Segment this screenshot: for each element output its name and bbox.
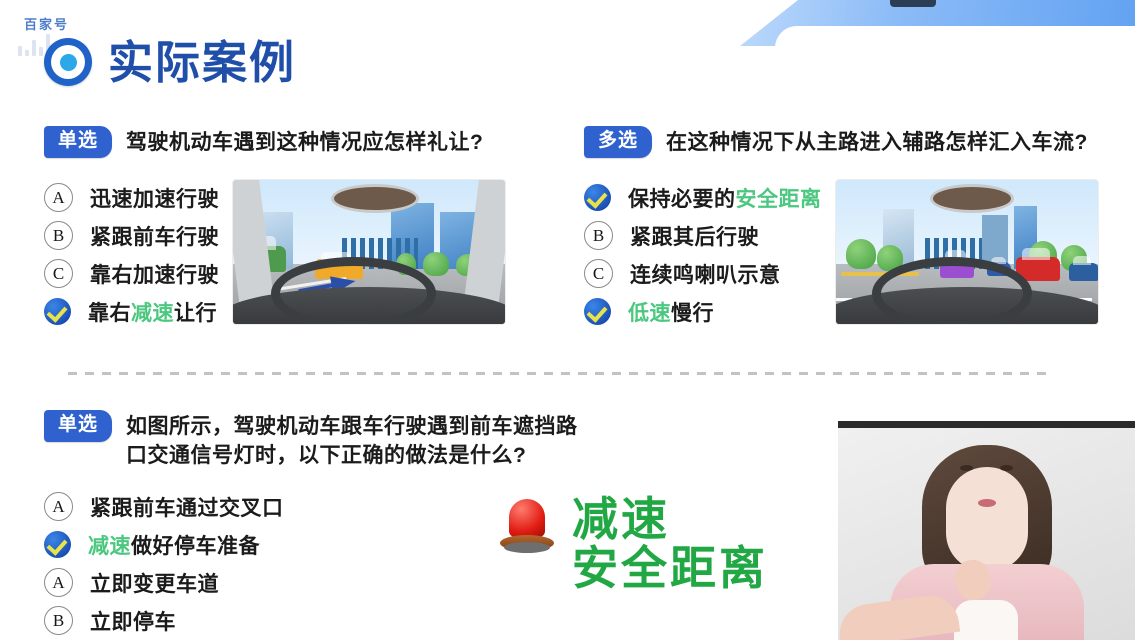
slogan-line-2: 安全距离	[572, 544, 768, 593]
option-text-post: 让行	[174, 302, 217, 325]
option-marker-checked-icon[interactable]	[584, 184, 611, 211]
question-3-text: 如图所示，驾驶机动车跟车行驶遇到前车遮挡路 口交通信号灯时，以下正确的做法是什么…	[126, 410, 578, 471]
option-marker[interactable]: C	[44, 259, 73, 288]
presenter-video[interactable]	[838, 421, 1135, 640]
presenter-mouth	[978, 499, 996, 507]
option-row-selected[interactable]: 减速做好停车准备	[44, 527, 284, 563]
question-3-line-2: 口交通信号灯时，以下正确的做法是什么?	[126, 442, 578, 471]
question-card-2: 多选 在这种情况下从主路进入辅路怎样汇入车流? 保持必要的安全距离 B 紧跟其后…	[584, 126, 1124, 330]
option-marker[interactable]: A	[44, 568, 73, 597]
option-label: 紧跟前车通过交叉口	[90, 492, 284, 522]
illustration-driver-view-intersection	[233, 180, 505, 324]
option-marker[interactable]: B	[584, 221, 613, 250]
option-row-selected[interactable]: 保持必要的安全距离	[584, 180, 822, 216]
option-marker[interactable]: A	[44, 183, 73, 212]
option-row-selected[interactable]: 低速慢行	[584, 294, 822, 330]
questions-top-row: 单选 驾驶机动车遇到这种情况应怎样礼让? A 迅速加速行驶 B 紧跟前车行驶 C…	[0, 126, 1135, 366]
question-1-type-badge: 单选	[44, 126, 112, 158]
question-2-head: 多选 在这种情况下从主路进入辅路怎样汇入车流?	[584, 126, 1124, 158]
slogan-line-1: 减速	[572, 495, 768, 544]
option-row[interactable]: B 紧跟其后行驶	[584, 218, 822, 254]
option-row[interactable]: A 立即变更车道	[44, 565, 284, 601]
option-label: 紧跟前车行驶	[90, 221, 219, 251]
option-row[interactable]: C 连续鸣喇叭示意	[584, 256, 822, 292]
page-header: 实际案例	[44, 38, 296, 86]
option-marker[interactable]: B	[44, 221, 73, 250]
option-row[interactable]: A 迅速加速行驶	[44, 180, 219, 216]
option-text-post: 慢行	[671, 302, 714, 325]
siren-light-icon	[500, 495, 554, 553]
option-label: 立即停车	[90, 606, 176, 636]
option-label: 立即变更车道	[90, 568, 219, 598]
question-2-text: 在这种情况下从主路进入辅路怎样汇入车流?	[666, 126, 1088, 158]
option-label: 靠右减速让行	[88, 297, 217, 327]
question-3-type-badge: 单选	[44, 410, 112, 442]
question-3-line-1: 如图所示，驾驶机动车跟车行驶遇到前车遮挡路	[126, 413, 578, 442]
presenter-eye-right	[1000, 465, 1013, 471]
option-marker[interactable]: C	[584, 259, 613, 288]
option-marker-checked-icon[interactable]	[44, 298, 71, 325]
camera-notch-icon	[890, 0, 936, 7]
presenter-eye-left	[960, 465, 973, 471]
video-top-bar	[838, 421, 1135, 428]
section-divider	[68, 372, 1053, 375]
slogan-block: 减速 安全距离	[500, 495, 768, 593]
question-card-1: 单选 驾驶机动车遇到这种情况应怎样礼让? A 迅速加速行驶 B 紧跟前车行驶 C…	[44, 126, 564, 330]
option-marker[interactable]: B	[44, 606, 73, 635]
option-text-pre: 靠右	[88, 302, 131, 325]
question-1-options: A 迅速加速行驶 B 紧跟前车行驶 C 靠右加速行驶 靠右减速让行	[44, 180, 219, 330]
option-label: 紧跟其后行驶	[630, 221, 759, 251]
question-1-head: 单选 驾驶机动车遇到这种情况应怎样礼让?	[44, 126, 564, 158]
option-row[interactable]: A 紧跟前车通过交叉口	[44, 489, 284, 525]
option-row[interactable]: C 靠右加速行驶	[44, 256, 219, 292]
option-text-post: 做好停车准备	[131, 535, 260, 558]
illustration-driver-view-highway	[836, 180, 1098, 324]
target-icon	[44, 38, 92, 86]
option-marker-checked-icon[interactable]	[44, 531, 71, 558]
question-2-options: 保持必要的安全距离 B 紧跟其后行驶 C 连续鸣喇叭示意 低速慢行	[584, 180, 822, 330]
question-1-body: A 迅速加速行驶 B 紧跟前车行驶 C 靠右加速行驶 靠右减速让行	[44, 180, 564, 330]
watermark-text: 百家号	[24, 14, 69, 33]
question-2-body: 保持必要的安全距离 B 紧跟其后行驶 C 连续鸣喇叭示意 低速慢行	[584, 180, 1124, 330]
slogan-text: 减速 安全距离	[572, 495, 768, 593]
question-1-text: 驾驶机动车遇到这种情况应怎样礼让?	[126, 126, 483, 158]
option-text-highlight: 安全距离	[736, 188, 822, 211]
option-row-selected[interactable]: 靠右减速让行	[44, 294, 219, 330]
option-text-highlight: 减速	[131, 302, 174, 325]
option-text-highlight: 低速	[628, 302, 671, 325]
option-label: 靠右加速行驶	[90, 259, 219, 289]
option-marker[interactable]: A	[44, 492, 73, 521]
option-text-pre: 保持必要的	[628, 188, 736, 211]
option-label: 连续鸣喇叭示意	[630, 259, 781, 289]
question-3-options: A 紧跟前车通过交叉口 减速做好停车准备 A 立即变更车道 B 立即停车	[44, 489, 284, 639]
option-label: 减速做好停车准备	[88, 530, 260, 560]
option-row[interactable]: B 紧跟前车行驶	[44, 218, 219, 254]
question-2-type-badge: 多选	[584, 126, 652, 158]
presenter-inner-top	[954, 600, 1018, 640]
option-marker-checked-icon[interactable]	[584, 298, 611, 325]
white-rounded-panel	[775, 26, 1135, 46]
option-text-highlight: 减速	[88, 535, 131, 558]
option-label: 保持必要的安全距离	[628, 183, 822, 213]
question-3-head: 单选 如图所示，驾驶机动车跟车行驶遇到前车遮挡路 口交通信号灯时，以下正确的做法…	[44, 410, 664, 471]
option-label: 低速慢行	[628, 297, 714, 327]
option-row[interactable]: B 立即停车	[44, 603, 284, 639]
page-title: 实际案例	[108, 40, 296, 85]
option-label: 迅速加速行驶	[90, 183, 219, 213]
presenter-face	[946, 467, 1028, 571]
